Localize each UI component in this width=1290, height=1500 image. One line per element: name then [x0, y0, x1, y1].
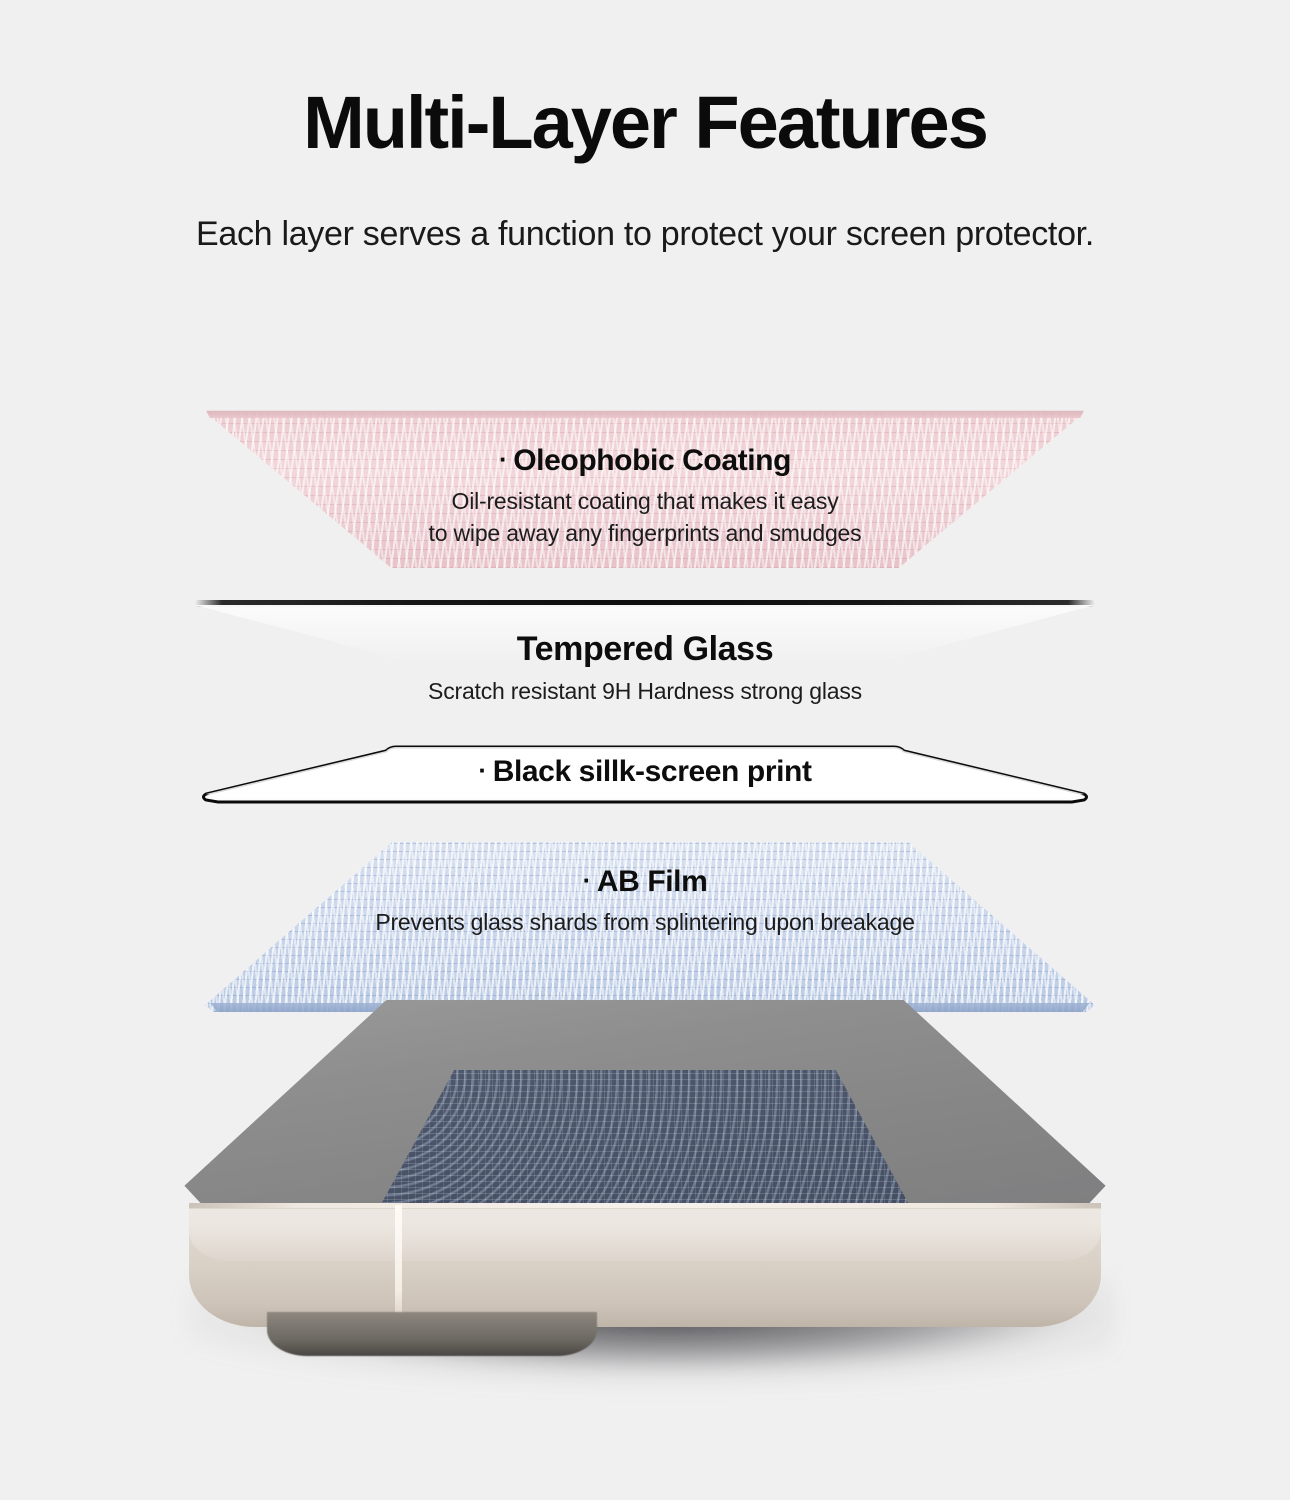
phone-metal-frame — [189, 1203, 1101, 1327]
phone-frame-highlight — [189, 1203, 1101, 1208]
tempered-glass-sheet — [195, 605, 1095, 660]
phone-frame-gloss — [189, 1209, 1101, 1261]
silk-screen-outline-icon — [200, 744, 1090, 806]
layer-oleophobic-coating — [200, 410, 1090, 568]
layer-ab-film — [205, 842, 1095, 1012]
phone-screen-texture-patch — [380, 1070, 910, 1218]
layer-black-silk-screen-print — [200, 744, 1090, 806]
layer-tempered-glass — [195, 596, 1095, 662]
phone-illustration: smartphone — [175, 1000, 1115, 1400]
oleophobic-coating-edge — [206, 410, 1084, 418]
infographic-canvas: Multi-Layer Features Each layer serves a… — [0, 0, 1290, 1500]
phone-label: smartphone — [175, 1000, 176, 1001]
oleophobic-coating-slab — [200, 410, 1090, 568]
ab-film-slab — [205, 842, 1095, 1012]
tempered-glass-description: Scratch resistant 9H Hardness strong gla… — [0, 675, 1290, 708]
phone-underside — [267, 1312, 597, 1356]
phone-antenna-line — [395, 1205, 402, 1325]
